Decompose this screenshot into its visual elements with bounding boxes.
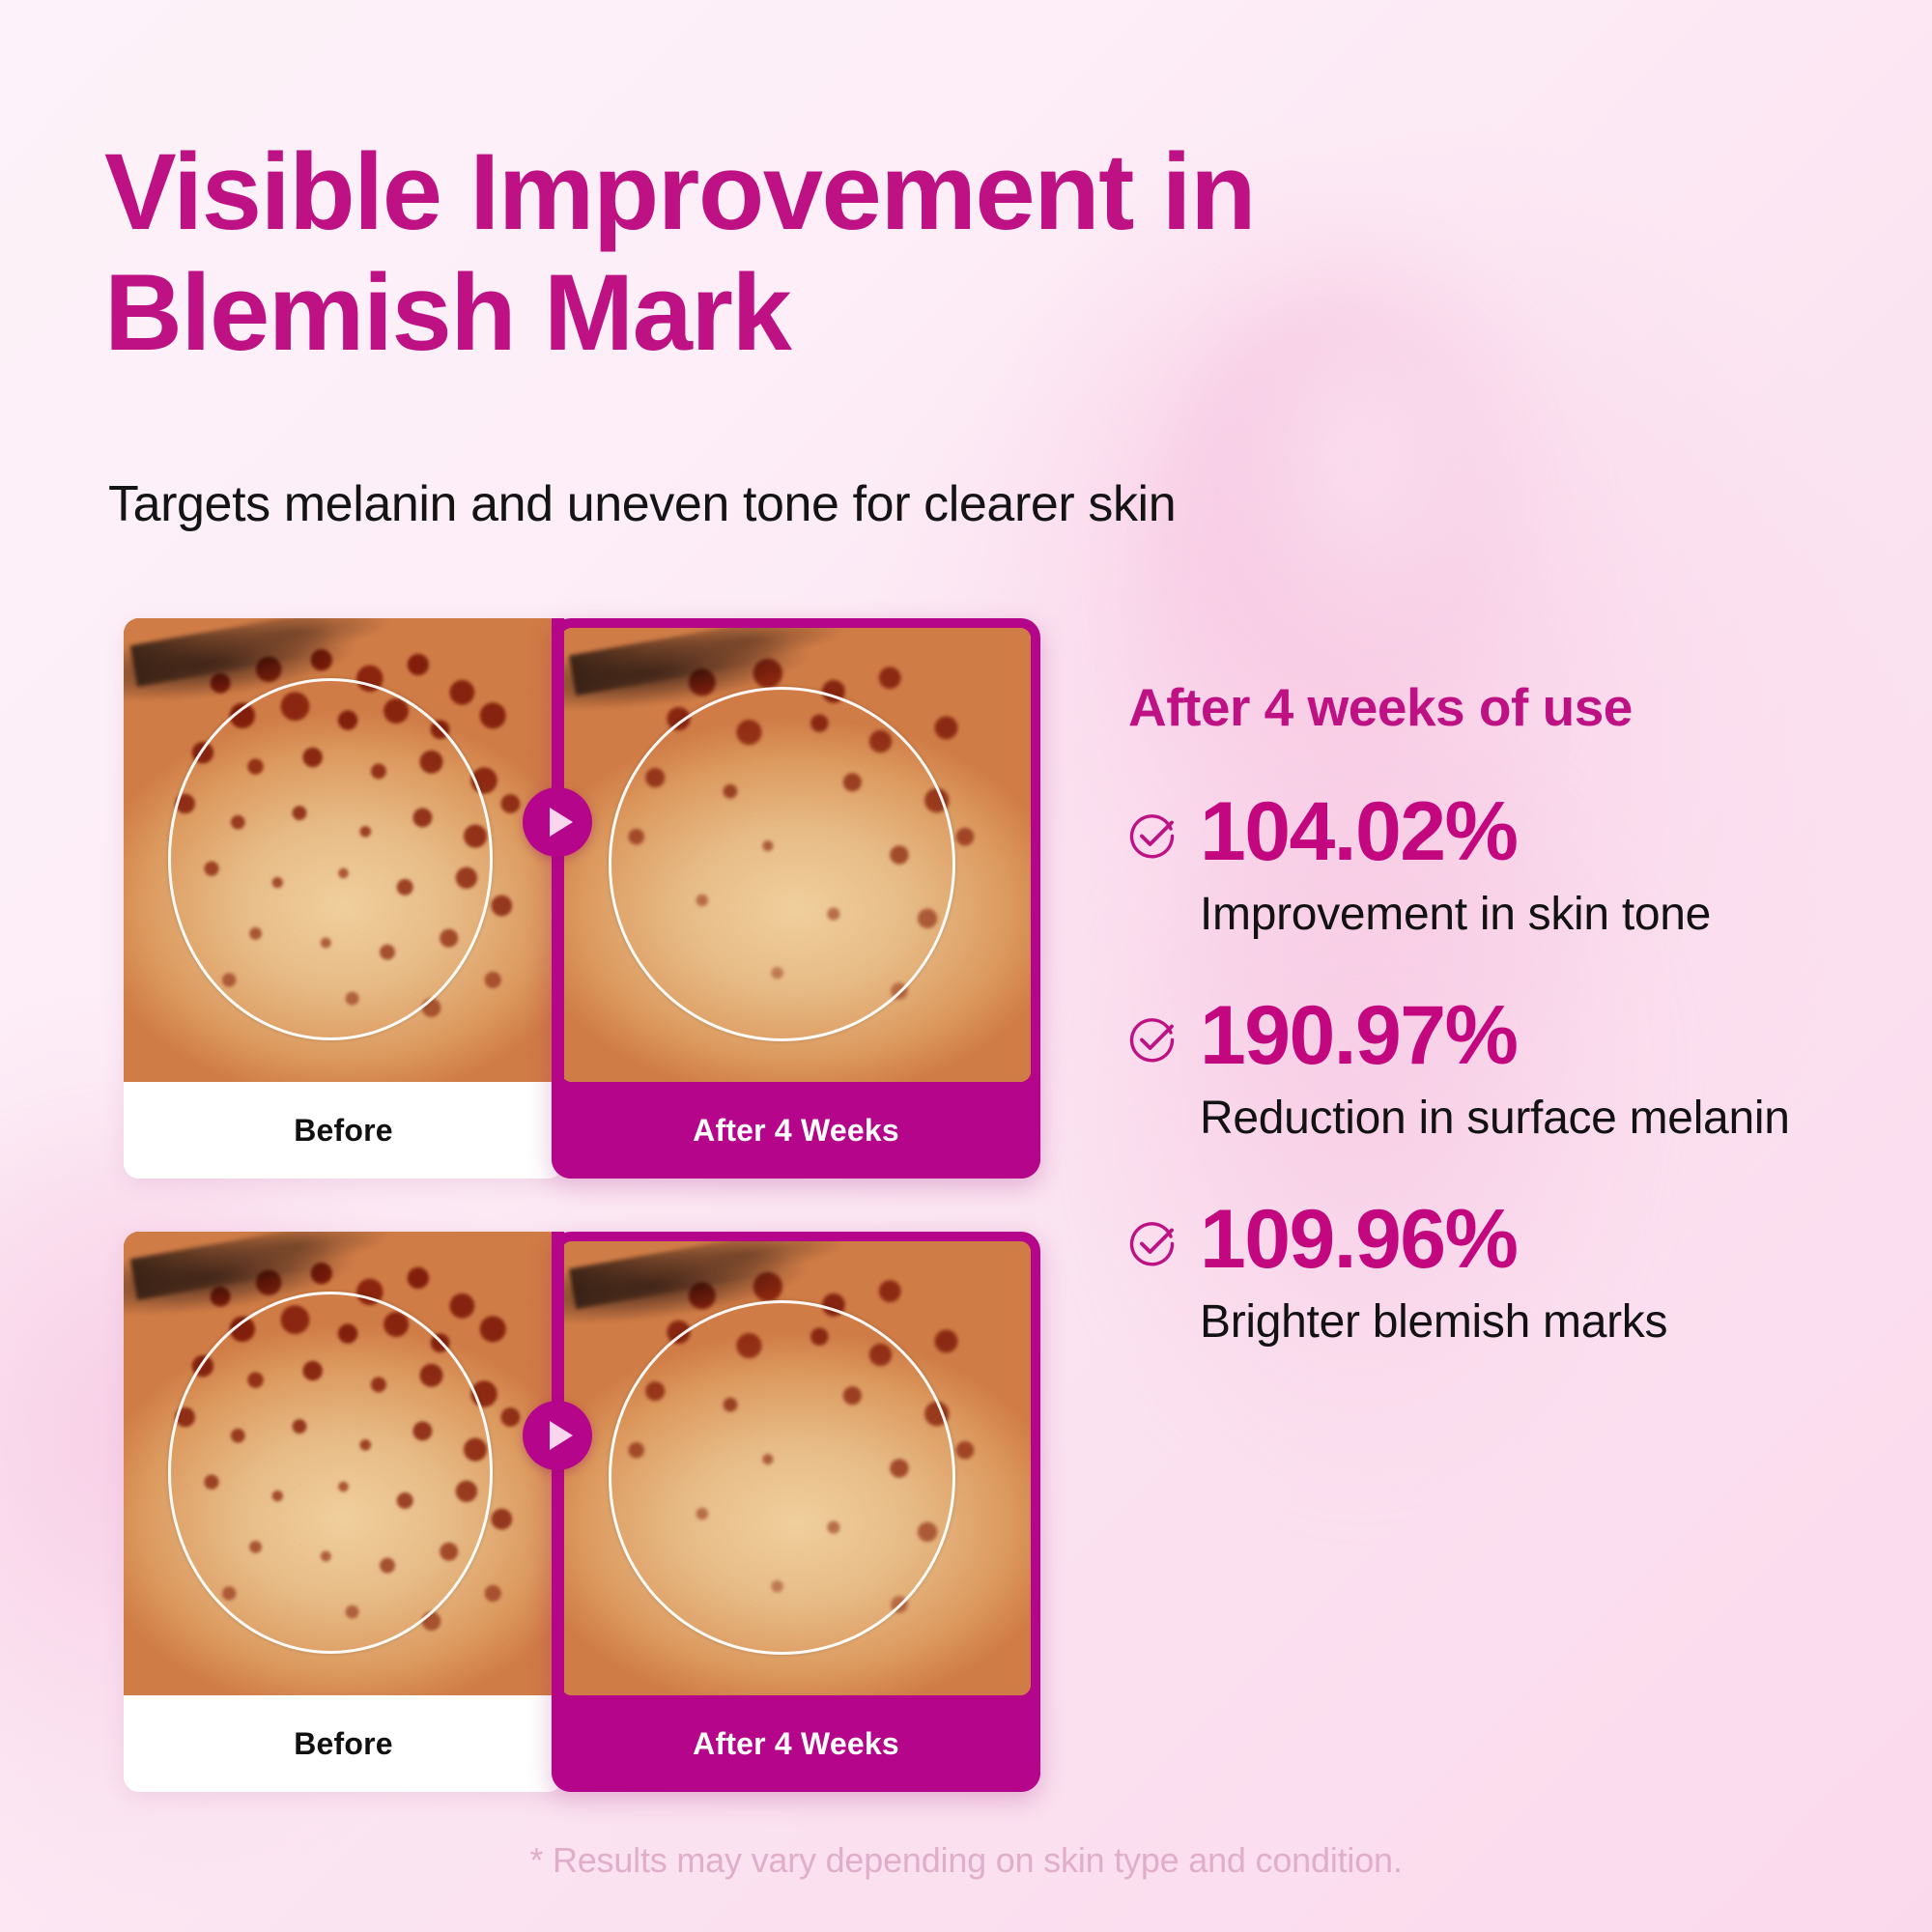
after-card: After 4 Weeks [552,618,1040,1179]
circle-marker-overlay [609,1300,956,1655]
infographic-poster: Visible Improvement in Blemish Mark Targ… [0,0,1932,1932]
play-triangle-icon [523,1401,592,1470]
circle-marker-overlay [609,687,956,1041]
stat-value: 190.97% [1200,994,1891,1079]
play-triangle-glyph [550,1421,573,1450]
page-title: Visible Improvement in Blemish Mark [104,131,1476,374]
circle-marker-overlay [168,678,494,1039]
page-subtitle: Targets melanin and uneven tone for clea… [108,473,1557,536]
before-card: Before [124,1232,563,1792]
before-skin-photo [124,618,563,1082]
circle-marker-overlay [168,1292,494,1653]
stat-body: 190.97% Reduction in surface melanin [1200,994,1891,1148]
after-skin-photo [561,1241,1031,1695]
after-label: After 4 Weeks [552,1695,1040,1792]
play-triangle-icon [523,787,592,857]
check-circle-icon [1128,811,1177,860]
after-skin-photo [561,628,1031,1082]
before-skin-photo [124,1232,563,1695]
before-label: Before [124,1695,563,1792]
after-card: After 4 Weeks [552,1232,1040,1792]
stat-description: Reduction in surface melanin [1200,1089,1891,1148]
stat-description: Brighter blemish marks [1200,1293,1891,1351]
stats-panel: After 4 weeks of use 104.02% Improvement… [1128,676,1891,1351]
before-label: Before [124,1082,563,1179]
after-label: After 4 Weeks [552,1082,1040,1179]
check-circle-icon [1128,1219,1177,1267]
before-after-comparison-row: Before After 4 Weeks [124,1232,1041,1792]
stat-value: 104.02% [1200,790,1891,875]
stats-heading: After 4 weeks of use [1128,676,1891,738]
before-card: Before [124,618,563,1179]
play-triangle-glyph [550,808,573,837]
stat-body: 109.96% Brighter blemish marks [1200,1198,1891,1351]
stat-description: Improvement in skin tone [1200,885,1891,944]
before-after-comparison-row: Before After 4 Weeks [124,618,1041,1179]
stat-item: 190.97% Reduction in surface melanin [1128,994,1891,1148]
stat-body: 104.02% Improvement in skin tone [1200,790,1891,944]
stat-value: 109.96% [1200,1198,1891,1283]
disclaimer-footnote: * Results may vary depending on skin typ… [0,1840,1932,1881]
check-circle-icon [1128,1015,1177,1064]
stat-item: 109.96% Brighter blemish marks [1128,1198,1891,1351]
stat-item: 104.02% Improvement in skin tone [1128,790,1891,944]
